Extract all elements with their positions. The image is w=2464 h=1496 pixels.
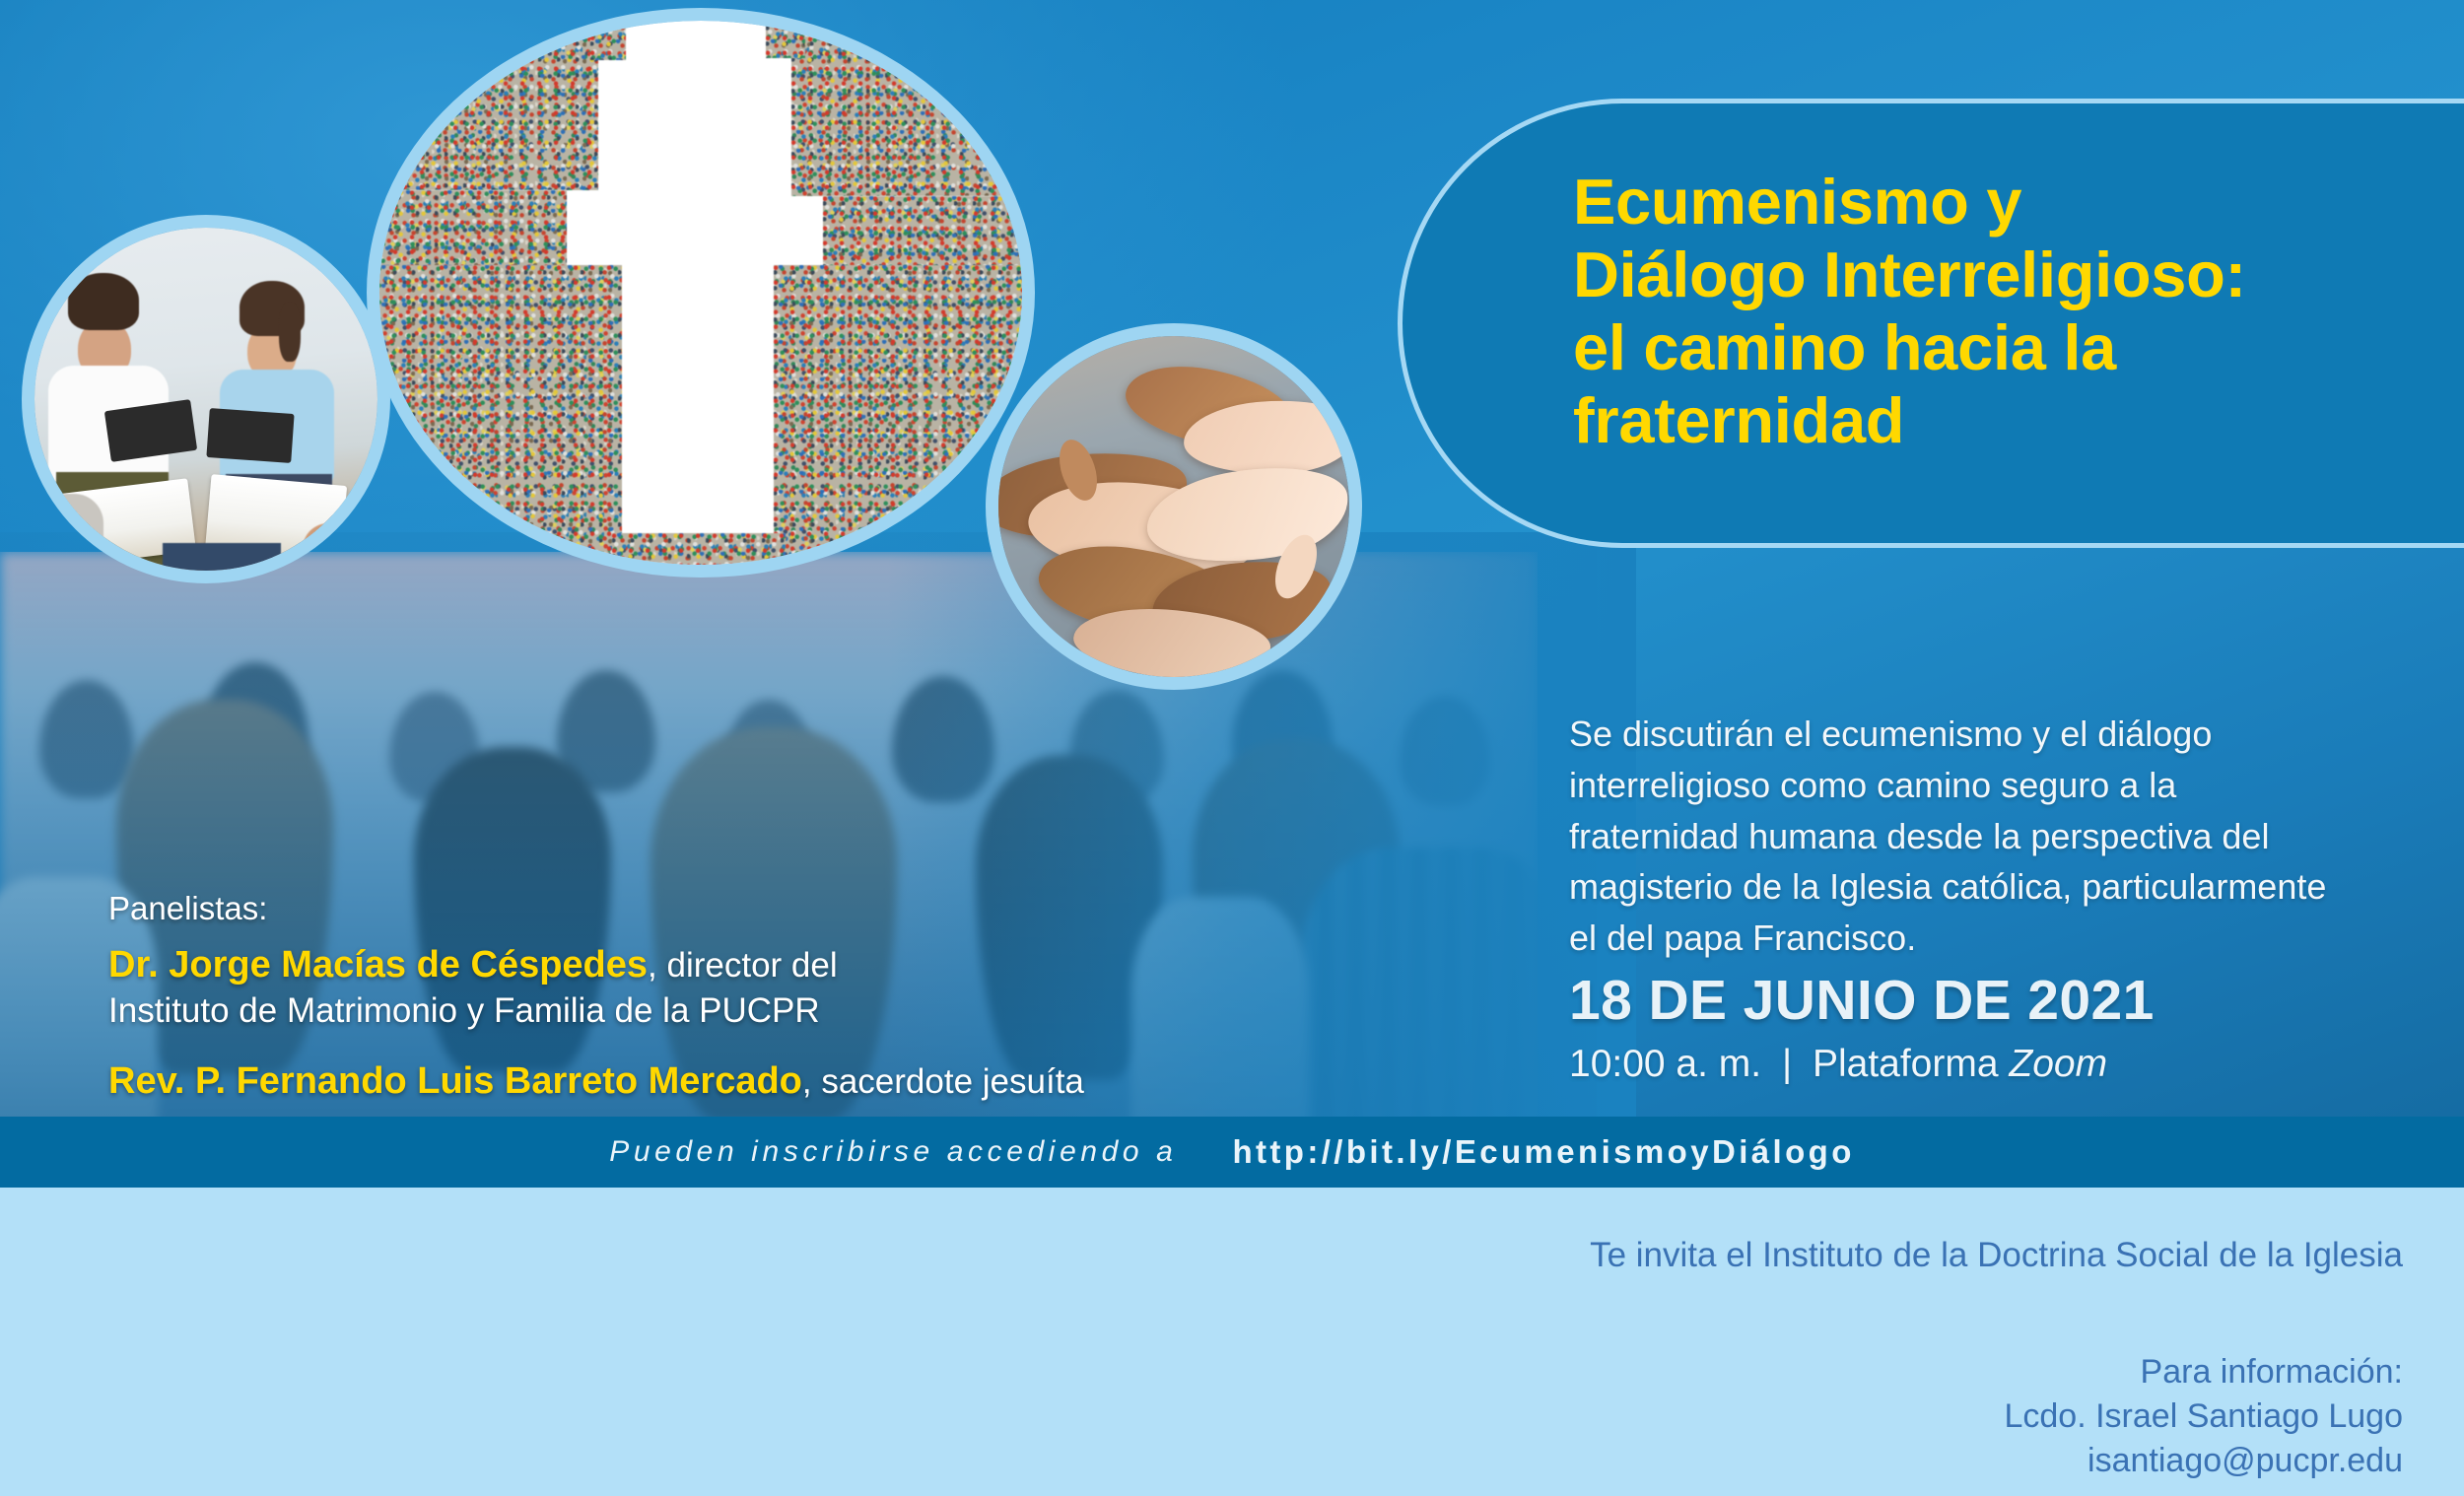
title-line-4: fraternidad	[1573, 384, 2460, 457]
panelist-name-2: Rev. P. Fernando Luis Barreto Mercado	[108, 1060, 802, 1102]
platform-name: Zoom	[2009, 1043, 2107, 1085]
registration-lead-text: Pueden inscribirse accediendo a	[609, 1135, 1177, 1169]
panelists-block: Panelistas: Dr. Jorge Macías de Céspedes…	[108, 892, 1193, 1106]
footer-invitation: Te invita el Instituto de la Doctrina So…	[1590, 1236, 2403, 1275]
panelist-item-1: Dr. Jorge Macías de Céspedes, director d…	[108, 942, 1193, 1033]
event-time-platform: 10:00 a. m. | Plataforma Zoom	[1569, 1043, 2107, 1086]
event-date: 18 DE JUNIO DE 2021	[1569, 968, 2155, 1033]
page-title: Ecumenismo y Diálogo Interreligioso: el …	[1573, 166, 2460, 457]
registration-url[interactable]: http://bit.ly/EcumenismoyDiálogo	[1232, 1133, 1854, 1171]
platform-label: Plataforma	[1813, 1043, 1999, 1085]
time-separator: |	[1772, 1043, 1802, 1085]
panelist-item-2: Rev. P. Fernando Luis Barreto Mercado, s…	[108, 1058, 1193, 1106]
circle-photo-crowd-cross	[367, 8, 1035, 578]
panelist-role-1: , director del	[648, 946, 838, 985]
circle-photo-bible-study	[22, 215, 390, 583]
title-line-2: Diálogo Interreligioso:	[1573, 238, 2460, 311]
circle-photo-stacked-hands	[986, 323, 1362, 690]
panelist-role-2: , sacerdote jesuíta	[802, 1062, 1084, 1101]
event-time: 10:00 a. m.	[1569, 1043, 1761, 1085]
event-poster: Ecumenismo y Diálogo Interreligioso: el …	[0, 0, 2464, 1496]
footer: Te invita el Instituto de la Doctrina So…	[0, 1188, 2464, 1496]
contact-name: Lcdo. Israel Santiago Lugo	[2004, 1394, 2403, 1439]
title-line-3: el camino hacia la	[1573, 311, 2460, 384]
contact-email[interactable]: isantiago@pucpr.edu	[2004, 1439, 2403, 1483]
panelists-label: Panelistas:	[108, 892, 1193, 924]
event-description: Se discutirán el ecumenismo y el diálogo…	[1569, 709, 2348, 964]
panelist-name-1: Dr. Jorge Macías de Céspedes	[108, 944, 648, 986]
footer-contact-block: Para información: Lcdo. Israel Santiago …	[2004, 1350, 2403, 1483]
title-line-1: Ecumenismo y	[1573, 166, 2460, 238]
panelist-spacer	[108, 1033, 1193, 1058]
registration-inner: Pueden inscribirse accediendo a http://b…	[0, 1117, 2464, 1188]
panelist-affiliation-1: Instituto de Matrimonio y Familia de la …	[108, 989, 1193, 1033]
registration-band: Pueden inscribirse accediendo a http://b…	[0, 1117, 2464, 1188]
contact-label: Para información:	[2004, 1350, 2403, 1394]
